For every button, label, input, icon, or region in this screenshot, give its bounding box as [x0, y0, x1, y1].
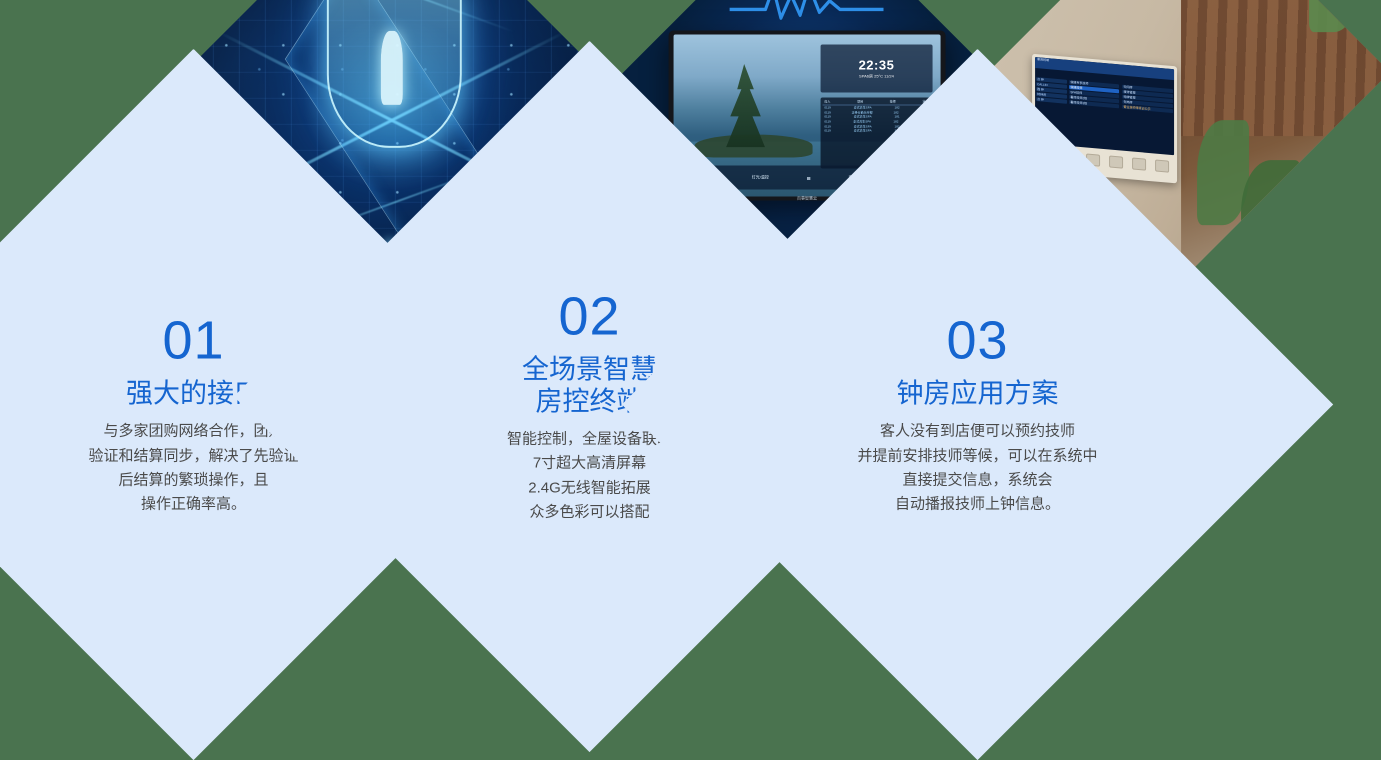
grid-apps-icon[interactable]: ▦ — [807, 175, 811, 180]
plant-icon — [1310, 0, 1358, 32]
panel-button[interactable] — [1155, 160, 1169, 173]
clock-time: 22:35 — [859, 58, 895, 71]
panel-button[interactable] — [1132, 158, 1146, 171]
shield-lock-icon — [326, 0, 461, 148]
col-header-room: 房人 — [824, 100, 830, 105]
panel-button[interactable] — [1109, 156, 1123, 169]
clock-subtitle: SPA6房 25°C 11/24 — [859, 73, 894, 79]
pulse-wave-icon — [730, 0, 884, 27]
wall-panel-column-right[interactable]: 空闲房 接待管理 轮牌管理 在岗房 营业技师排班记公示 — [1122, 84, 1174, 155]
col-header-tech: 技师 — [890, 100, 896, 105]
toolbar-light-temp[interactable]: 灯光/温控 — [752, 175, 769, 181]
feature-card-3-content: 03 钟房应用方案 客人没有到店便可以预约技师 并提前安排技师等候，可以在系统中… — [714, 313, 1241, 516]
plant-icon — [1241, 160, 1301, 264]
col-header-item: 项目 — [857, 100, 863, 105]
card-heading: 钟房应用方案 — [714, 378, 1241, 410]
wall-panel-column-left[interactable]: 保健专享技师 保健技师 SPA技师 看房技师2组 看房技师3组 — [1069, 79, 1121, 150]
clock-widget: 22:35 SPA6房 25°C 11/24 — [820, 45, 932, 93]
cell-room: 0119 — [824, 129, 830, 134]
card-body: 客人没有到店便可以预约技师 并提前安排技师等候，可以在系统中 直接提交信息，系统… — [714, 419, 1241, 516]
cell-item: 泰式养生SPA — [854, 129, 872, 134]
card-number: 03 — [714, 313, 1241, 367]
promo-banner: 22:35 SPA6房 25°C 11/24 房人 项目 技师 状态 — [0, 0, 1381, 603]
